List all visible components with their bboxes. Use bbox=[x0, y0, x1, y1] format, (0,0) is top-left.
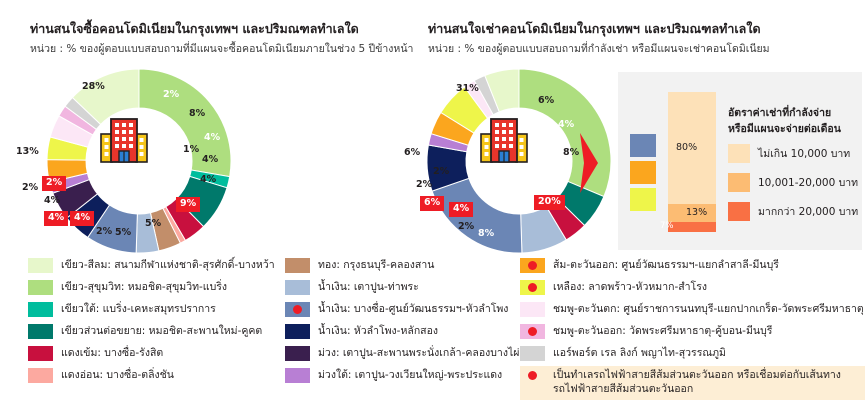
legend-item: ทอง: กรุงธนบุรี-คลองสาน bbox=[285, 256, 520, 278]
page-subtitle-rent: หน่วย : % ของผู้ตอบแบบสอบถามที่กำลังเช่า… bbox=[428, 40, 770, 57]
orange-line-marker-icon bbox=[528, 261, 537, 270]
legend-item-label: แดงเข้ม: บางซื่อ-รังสิต bbox=[61, 344, 163, 360]
key-color-swatch bbox=[728, 202, 750, 221]
legend-color-swatch bbox=[28, 258, 53, 273]
legend-item-label: แอร์พอร์ต เรล ลิงก์ พญาไท-สุวรรณภูมิ bbox=[553, 344, 726, 360]
legend-column-2: ส้ม-ตะวันออก: ศูนย์วัฒนธรรมฯ-แยกลำสาลี-ม… bbox=[520, 256, 865, 400]
legend-item: เขียว-สีลม: สนามกีฬาแห่งชาติ-สุรศักดิ์-บ… bbox=[28, 256, 283, 278]
rent-panel-key-over-20k: มากกว่า 20,000 บาท bbox=[728, 202, 858, 221]
buy-pct-label: 5% bbox=[115, 228, 131, 238]
rent-panel-side-swatches bbox=[630, 134, 656, 215]
page-subtitle-buy: หน่วย : % ของผู้ตอบแบบสอบถามที่มีแผนจะซื… bbox=[30, 40, 413, 57]
legend-item-label: ส้ม-ตะวันออก: ศูนย์วัฒนธรรมฯ-แยกลำสาลี-ม… bbox=[553, 256, 779, 272]
rent-pct-label: 2% bbox=[458, 222, 474, 232]
key-color-swatch bbox=[728, 173, 750, 192]
rent-pct-label: 4% bbox=[449, 202, 473, 217]
legend-color-swatch bbox=[520, 324, 545, 339]
buy-pct-label: 28% bbox=[82, 82, 105, 92]
legend-color-swatch bbox=[28, 302, 53, 317]
legend-item: ม่วงใต้: เตาปูน-วงเวียนใหญ่-พระประแดง bbox=[285, 366, 520, 388]
buy-pct-label: 4% bbox=[70, 211, 94, 226]
rent-pct-label: 2% bbox=[416, 180, 432, 190]
orange-line-marker-icon bbox=[528, 283, 537, 292]
key-label: ไม่เกิน 10,000 บาท bbox=[758, 145, 850, 162]
buy-pct-label: 5% bbox=[145, 219, 161, 229]
buy-pct-label: 4% bbox=[44, 196, 60, 206]
yellow-swatch bbox=[630, 188, 656, 211]
red-arrow-icon bbox=[578, 132, 600, 194]
legend-color-swatch bbox=[28, 324, 53, 339]
key-color-swatch bbox=[728, 144, 750, 163]
buy-pct-label: 2% bbox=[163, 90, 179, 100]
legend-item-label: น้ำเงิน: หัวลำโพง-หลักสอง bbox=[318, 322, 438, 338]
legend-color-swatch bbox=[28, 280, 53, 295]
bar-segment-label: 13% bbox=[686, 207, 707, 218]
rent-pct-label: 6% bbox=[420, 196, 444, 211]
legend-item-label: น้ำเงิน: บางซื่อ-ศูนย์วัฒนธรรมฯ-หัวลำโพง bbox=[318, 300, 508, 316]
bar-segment-label: 7% bbox=[660, 221, 674, 231]
legend-color-swatch bbox=[285, 324, 310, 339]
buy-pct-label: 9% bbox=[176, 197, 200, 212]
legend-item-label: แดงอ่อน: บางซื่อ-ตลิ่งชัน bbox=[61, 366, 174, 382]
legend-item-label: เป็นทำเลรถไฟฟ้าสายสีส้มส่วนตะวันออก หรือ… bbox=[553, 366, 865, 396]
page-title-buy: ท่านสนใจซื้อคอนโดมิเนียมในกรุงเทพฯ และปร… bbox=[30, 19, 359, 39]
legend: เขียว-สีลม: สนามกีฬาแห่งชาติ-สุรศักดิ์-บ… bbox=[0, 256, 868, 412]
legend-item: ม่วง: เตาปูน-สะพานพระนั่งเกล้า-คลองบางไผ… bbox=[285, 344, 520, 366]
bar-segment-10k-20k: 13% bbox=[668, 204, 716, 222]
legend-item-label: ม่วงใต้: เตาปูน-วงเวียนใหญ่-พระประแดง bbox=[318, 366, 502, 382]
legend-item-label: ทอง: กรุงธนบุรี-คลองสาน bbox=[318, 256, 434, 272]
rent-pct-label: 8% bbox=[563, 148, 579, 158]
orange-line-marker-icon bbox=[293, 305, 302, 314]
orange-line-marker-icon bbox=[528, 327, 537, 336]
rent-pct-label: 20% bbox=[534, 195, 565, 210]
legend-column-1: ทอง: กรุงธนบุรี-คลองสานน้ำเงิน: เตาปูน-ท… bbox=[285, 256, 520, 388]
buy-pct-label: 4% bbox=[200, 175, 216, 185]
bar-segment-over-20k: 7% bbox=[668, 222, 716, 232]
buy-pct-label: 13% bbox=[16, 147, 39, 157]
legend-color-swatch bbox=[520, 346, 545, 361]
buy-pct-label: 2% bbox=[96, 227, 112, 237]
buy-pct-label: 4% bbox=[202, 155, 218, 165]
legend-item: ส้ม-ตะวันออก: ศูนย์วัฒนธรรมฯ-แยกลำสาลี-ม… bbox=[520, 256, 865, 278]
rent-pct-label: 6% bbox=[404, 148, 420, 158]
legend-item-label: เหลือง: ลาดพร้าว-หัวหมาก-สำโรง bbox=[553, 278, 707, 294]
legend-color-swatch bbox=[285, 368, 310, 383]
buy-pct-label: 2% bbox=[42, 176, 66, 191]
orange-swatch bbox=[630, 161, 656, 184]
rent-pct-label: 2% bbox=[433, 167, 449, 177]
legend-color-swatch bbox=[520, 302, 545, 317]
legend-item: แดงอ่อน: บางซื่อ-ตลิ่งชัน bbox=[28, 366, 283, 388]
legend-item: แอร์พอร์ต เรล ลิงก์ พญาไท-สุวรรณภูมิ bbox=[520, 344, 865, 366]
orange-line-marker-icon bbox=[528, 371, 537, 380]
legend-item: น้ำเงิน: เตาปูน-ท่าพระ bbox=[285, 278, 520, 300]
legend-item: ชมพู-ตะวันออก: วัดพระศรีมหาธาตุ-คู้บอน-ม… bbox=[520, 322, 865, 344]
legend-item: เขียว-สุขุมวิท: หมอชิต-สุขุมวิท-แบริ่ง bbox=[28, 278, 283, 300]
rent-rate-panel: 80% 13% 7% อัตราค่าเช่าที่กำลังจ่าย หรือ… bbox=[618, 72, 862, 250]
donut-slice bbox=[432, 178, 522, 253]
bar-segment-under-10k: 80% bbox=[668, 92, 716, 204]
key-label: 10,001-20,000 บาท bbox=[758, 174, 858, 191]
rent-panel-key-10k-20k: 10,001-20,000 บาท bbox=[728, 173, 858, 192]
rent-pct-label: 6% bbox=[538, 96, 554, 106]
buy-pct-label: 1% bbox=[183, 145, 199, 155]
legend-item-label: เขียว-สุขุมวิท: หมอชิต-สุขุมวิท-แบริ่ง bbox=[61, 278, 227, 294]
legend-color-swatch bbox=[520, 258, 545, 273]
blue-swatch bbox=[630, 134, 656, 157]
page-title-rent: ท่านสนใจเช่าคอนโดมิเนียมในกรุงเทพฯ และปร… bbox=[428, 19, 761, 39]
buy-pct-label: 4% bbox=[204, 133, 220, 143]
legend-item-label: น้ำเงิน: เตาปูน-ท่าพระ bbox=[318, 278, 419, 294]
legend-item-label: เขียวใต้: แบริ่ง-เคหะสมุทรปราการ bbox=[61, 300, 216, 316]
legend-item: น้ำเงิน: บางซื่อ-ศูนย์วัฒนธรรมฯ-หัวลำโพง bbox=[285, 300, 520, 322]
legend-item: เป็นทำเลรถไฟฟ้าสายสีส้มส่วนตะวันออก หรือ… bbox=[520, 366, 865, 400]
rent-rate-stacked-bar: 80% 13% 7% bbox=[668, 92, 716, 232]
rent-pct-label: 8% bbox=[478, 229, 494, 239]
buy-pct-label: 2% bbox=[22, 183, 38, 193]
rent-pct-label: 4% bbox=[558, 120, 574, 130]
legend-item-label: เขียว-สีลม: สนามกีฬาแห่งชาติ-สุรศักดิ์-บ… bbox=[61, 256, 275, 272]
legend-color-swatch bbox=[285, 346, 310, 361]
legend-color-swatch bbox=[285, 280, 310, 295]
buy-pct-label: 4% bbox=[44, 211, 68, 226]
bar-segment-label: 80% bbox=[676, 142, 697, 153]
rent-panel-key-under-10k: ไม่เกิน 10,000 บาท bbox=[728, 144, 850, 163]
legend-item-label: ชมพู-ตะวันออก: วัดพระศรีมหาธาตุ-คู้บอน-ม… bbox=[553, 322, 772, 338]
legend-color-swatch bbox=[520, 280, 545, 295]
legend-color-swatch bbox=[28, 368, 53, 383]
legend-item: เหลือง: ลาดพร้าว-หัวหมาก-สำโรง bbox=[520, 278, 865, 300]
legend-item: เขียวส่วนต่อขยาย: หมอชิต-สะพานใหม่-คูคต bbox=[28, 322, 283, 344]
buy-pct-label: 8% bbox=[189, 109, 205, 119]
legend-item-label: ม่วง: เตาปูน-สะพานพระนั่งเกล้า-คลองบางไผ… bbox=[318, 344, 519, 360]
legend-color-swatch bbox=[285, 302, 310, 317]
building-icon bbox=[99, 116, 149, 168]
rent-panel-heading-line2: หรือมีแผนจะจ่ายต่อเดือน bbox=[728, 120, 841, 137]
legend-item: เขียวใต้: แบริ่ง-เคหะสมุทรปราการ bbox=[28, 300, 283, 322]
legend-item-label: เขียวส่วนต่อขยาย: หมอชิต-สะพานใหม่-คูคต bbox=[61, 322, 262, 338]
key-label: มากกว่า 20,000 บาท bbox=[758, 203, 858, 220]
rent-pct-label: 31% bbox=[456, 84, 479, 94]
building-icon bbox=[479, 116, 529, 168]
legend-column-0: เขียว-สีลม: สนามกีฬาแห่งชาติ-สุรศักดิ์-บ… bbox=[28, 256, 283, 388]
legend-color-swatch bbox=[285, 258, 310, 273]
legend-color-swatch bbox=[520, 368, 545, 383]
legend-item-label: ชมพู-ตะวันตก: ศูนย์ราชการนนทบุรี-แยกปากเ… bbox=[553, 300, 864, 316]
legend-item: น้ำเงิน: หัวลำโพง-หลักสอง bbox=[285, 322, 520, 344]
legend-color-swatch bbox=[28, 346, 53, 361]
legend-item: แดงเข้ม: บางซื่อ-รังสิต bbox=[28, 344, 283, 366]
infographic-page: ท่านสนใจซื้อคอนโดมิเนียมในกรุงเทพฯ และปร… bbox=[0, 0, 868, 412]
legend-item: ชมพู-ตะวันตก: ศูนย์ราชการนนทบุรี-แยกปากเ… bbox=[520, 300, 865, 322]
rent-panel-heading-line1: อัตราค่าเช่าที่กำลังจ่าย bbox=[728, 104, 831, 121]
